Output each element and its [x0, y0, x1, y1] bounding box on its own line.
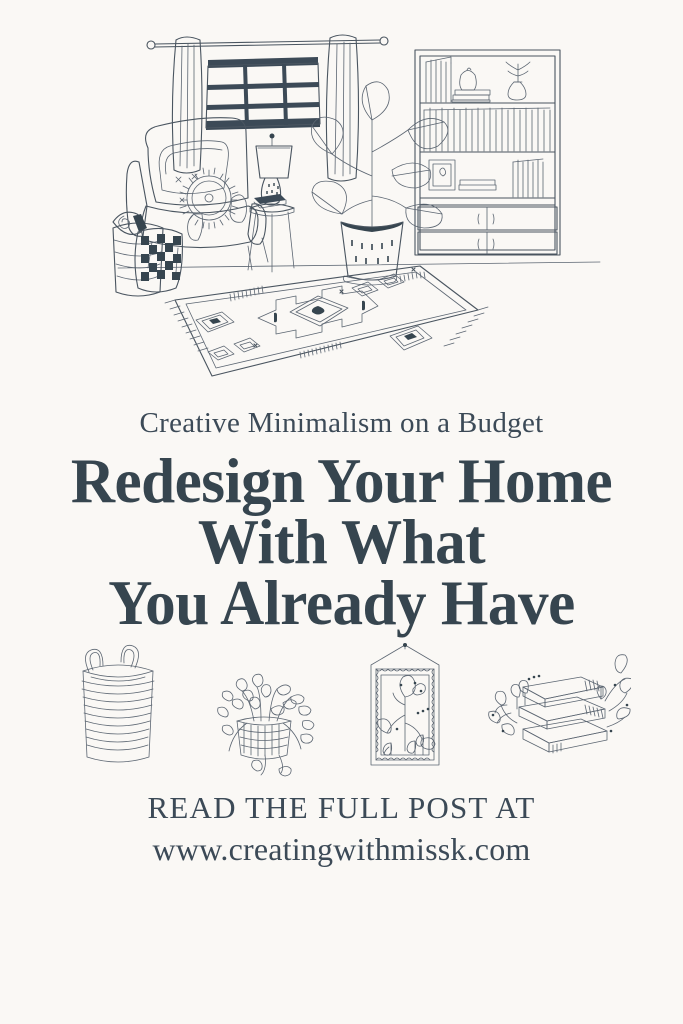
armchair-icon [126, 118, 268, 272]
footer-url[interactable]: www.creatingwithmissk.com [0, 828, 683, 871]
hanging-plant-icon [199, 639, 329, 779]
sunburst-pillow [180, 168, 238, 229]
footer: READ THE FULL POST AT www.creatingwithmi… [0, 784, 683, 871]
vase-with-branches [506, 62, 530, 100]
subtitle: Creative Minimalism on a Budget [0, 406, 683, 451]
shelf-books-middle [424, 108, 550, 151]
headline-line-1: Redesign Your Home [10, 451, 673, 512]
headline-line-2: With What [10, 512, 673, 573]
hero-illustration [0, 0, 683, 400]
jar-and-books [452, 68, 490, 102]
framed-floral-art-icon [345, 639, 465, 779]
pin-graphic: Creative Minimalism on a Budget Redesign… [0, 0, 683, 1024]
side-table-lamp [248, 134, 294, 273]
basket-with-blanket-icon [113, 212, 182, 296]
text-block: Creative Minimalism on a Budget Redesign… [0, 400, 683, 634]
footer-cta: READ THE FULL POST AT [0, 788, 683, 828]
icon-row [0, 634, 683, 784]
headline: Redesign Your Home With What You Already… [0, 451, 683, 634]
shelf-art-and-books [429, 159, 543, 197]
cabinet-doors [418, 207, 557, 254]
floor-line [118, 262, 600, 268]
shelf-books-top [426, 57, 451, 102]
checkered-blanket [135, 228, 182, 292]
headline-line-3: You Already Have [10, 573, 673, 634]
bookshelf-icon [415, 50, 560, 255]
area-rug-icon [165, 266, 488, 376]
living-room-line-art [0, 0, 683, 400]
curtain-rod-icon [147, 37, 388, 49]
window-icon [206, 57, 320, 130]
stacked-books-icon [481, 639, 631, 779]
woven-basket-icon [53, 639, 183, 779]
